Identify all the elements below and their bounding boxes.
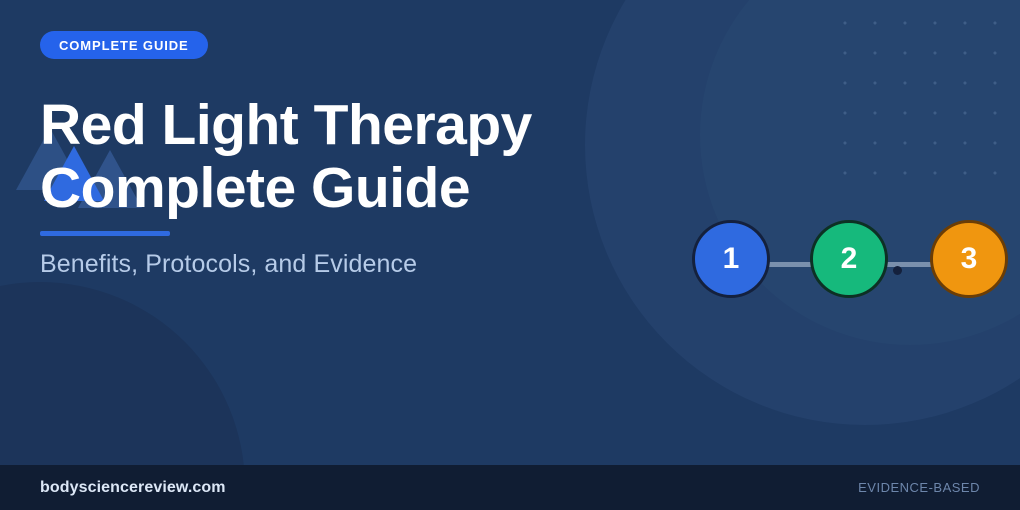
status-badge: COMPLETE GUIDE [40, 31, 208, 59]
step-circle-3: 3 [930, 220, 1008, 298]
node-dot-b [893, 266, 902, 275]
step-circle-2: 2 [810, 220, 888, 298]
step-indicator: 1 2 3 [690, 220, 1010, 310]
footer-site-name: bodysciencereview.com [40, 479, 226, 497]
step-circle-1: 1 [692, 220, 770, 298]
accent-underline [40, 231, 170, 236]
hero-banner: COMPLETE GUIDE Red Light Therapy Complet… [0, 0, 1020, 510]
page-subtitle: Benefits, Protocols, and Evidence [40, 250, 417, 279]
footer-bar: bodysciencereview.com EVIDENCE-BASED [0, 465, 1020, 510]
footer-evidence-tag: EVIDENCE-BASED [858, 480, 980, 495]
page-title-line-1: Red Light Therapy [40, 94, 680, 157]
page-title: Red Light Therapy Complete Guide [40, 94, 680, 220]
page-title-line-2: Complete Guide [40, 157, 680, 220]
banner-content: COMPLETE GUIDE Red Light Therapy Complet… [0, 0, 1020, 465]
